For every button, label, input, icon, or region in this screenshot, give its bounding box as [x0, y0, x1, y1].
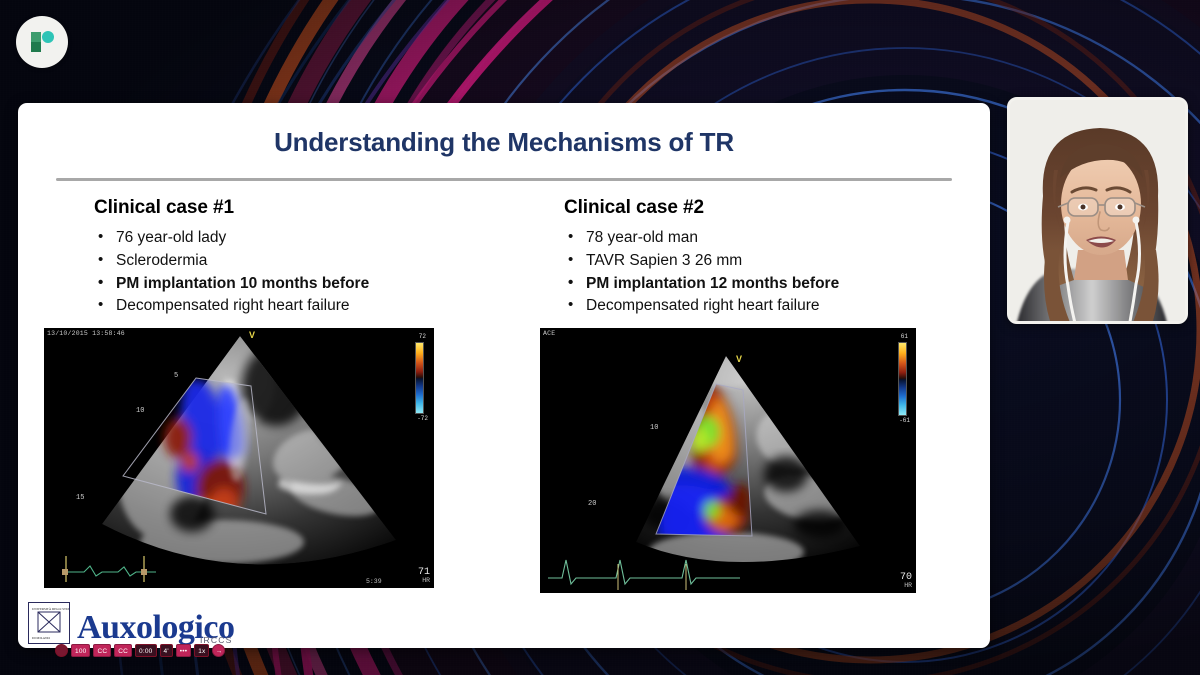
echo-2-scale-min: -61 [899, 417, 910, 424]
echo-1-depth-15: 15 [76, 494, 84, 502]
clinical-case-2: Clinical case #2 78 year-old man TAVR Sa… [504, 197, 990, 318]
echo-2-depth-20: 20 [588, 500, 596, 508]
list-item: 78 year-old man [564, 227, 990, 250]
echo-1-color-scale [415, 342, 424, 414]
next-slide-icon[interactable]: → [212, 644, 225, 657]
presenter-video-tile[interactable] [1007, 97, 1188, 324]
presenter-portrait [1010, 100, 1188, 324]
echo-1-timestamp: 13/10/2015 13:58:46 [47, 330, 125, 337]
echo-1-image [44, 328, 434, 588]
clinical-cases-row: Clinical case #1 76 year-old lady Sclero… [18, 181, 990, 318]
echo-1-scale-min: -72 [417, 415, 428, 422]
platform-logo-icon [16, 16, 68, 68]
echo-1-scale-max: 72 [419, 333, 426, 340]
echo-1-depth-10: 10 [136, 407, 144, 415]
institution-logo: UNIVERSITÀ DEGLI STUDI DI MILANO Auxolog… [28, 602, 234, 644]
echo-1-depth-5: 5 [174, 372, 178, 380]
list-item: Decompensated right heart failure [94, 295, 504, 318]
echo-2-image [540, 328, 916, 593]
echo-2-corner-label: ACE [543, 330, 555, 337]
clinical-case-1: Clinical case #1 76 year-old lady Sclero… [18, 197, 504, 318]
echo-1-hr-label: HR [418, 578, 430, 585]
search-icon[interactable]: search-icon [55, 644, 68, 657]
case-2-bullets: 78 year-old man TAVR Sapien 3 26 mm PM i… [564, 227, 990, 318]
echo-1-time: 5:39 [366, 578, 382, 585]
echocardiogram-case-2: ACE V 10 20 61 -61 70 HR [540, 328, 916, 593]
control-zoom-level[interactable]: 100 [71, 644, 90, 657]
echo-1-view-marker: V [249, 330, 255, 340]
list-item: Sclerodermia [94, 250, 504, 273]
echo-2-hr-label: HR [900, 583, 912, 590]
presentation-slide: Understanding the Mechanisms of TR Clini… [18, 103, 990, 648]
case-1-bullets: 76 year-old lady Sclerodermia PM implant… [94, 227, 504, 318]
echo-2-heart-rate: 70 HR [900, 573, 912, 590]
control-duration[interactable]: 4' [160, 644, 173, 657]
list-item: Decompensated right heart failure [564, 295, 990, 318]
control-captions-1[interactable]: CC [93, 644, 111, 657]
control-playback-speed[interactable]: 1x [194, 644, 209, 657]
echo-2-scale-max: 61 [901, 333, 908, 340]
control-elapsed-time[interactable]: 0:00 [135, 644, 156, 657]
case-1-heading: Clinical case #1 [94, 197, 504, 219]
list-item: 76 year-old lady [94, 227, 504, 250]
svg-text:UNIVERSITÀ DEGLI STUDI: UNIVERSITÀ DEGLI STUDI [32, 606, 69, 611]
auxologico-wordmark: Auxologico IRCCS [77, 612, 234, 644]
case-2-heading: Clinical case #2 [564, 197, 990, 219]
page-title: Understanding the Mechanisms of TR [18, 127, 990, 158]
echo-1-heart-rate: 71 HR [418, 568, 430, 585]
list-item: PM implantation 10 months before [94, 273, 504, 296]
control-more-options[interactable]: ••• [176, 644, 191, 657]
control-captions-2[interactable]: CC [114, 644, 132, 657]
echo-2-depth-10: 10 [650, 424, 658, 432]
echocardiogram-case-1: 13/10/2015 13:58:46 V 5 10 15 72 -72 71 … [44, 328, 434, 588]
echo-2-color-scale [898, 342, 907, 416]
player-control-bar[interactable]: search-icon 100 CC CC 0:00 4' ••• 1x → [55, 644, 225, 657]
echo-2-view-marker: V [736, 354, 742, 364]
university-crest-icon: UNIVERSITÀ DEGLI STUDI DI MILANO [28, 602, 70, 644]
list-item: PM implantation 12 months before [564, 273, 990, 296]
list-item: TAVR Sapien 3 26 mm [564, 250, 990, 273]
svg-text:DI MILANO: DI MILANO [32, 636, 51, 640]
